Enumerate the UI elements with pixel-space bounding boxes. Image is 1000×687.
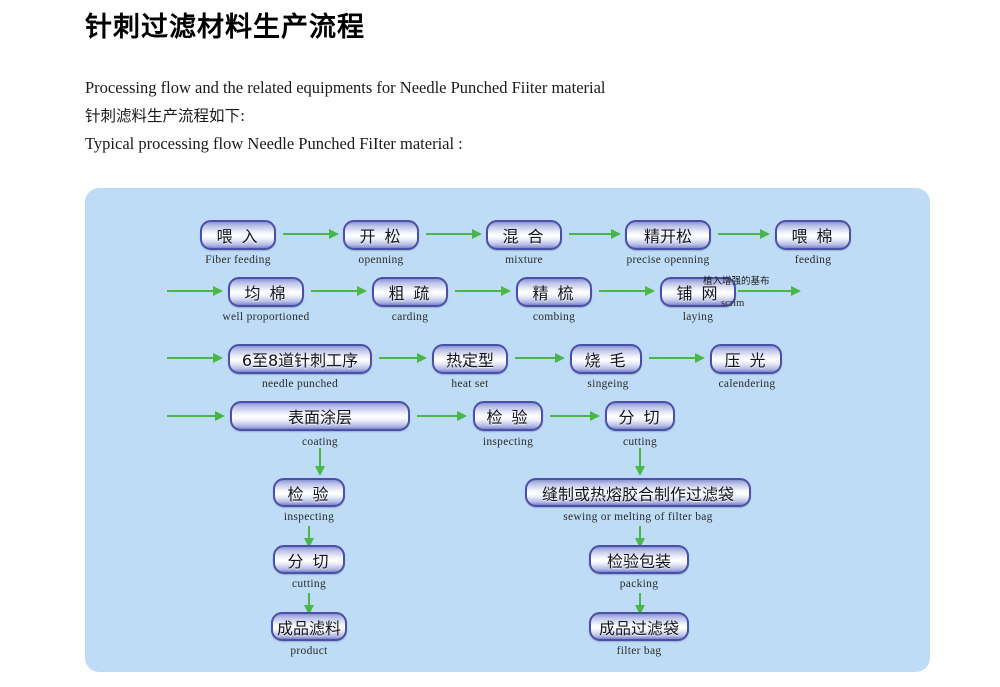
flowchart-panel: 喂 入 Fiber feeding 开 松 openning 混 合 mixtu… [85, 188, 930, 672]
node-feeding[interactable]: 喂 棉 [775, 220, 851, 250]
node-label: 成品过滤袋 [599, 615, 679, 639]
caption-inspecting-branch: inspecting [254, 511, 364, 523]
caption-calendering: calendering [683, 378, 811, 390]
node-well-proportioned[interactable]: 均 棉 [228, 277, 304, 307]
arrow-row2-3 [599, 286, 655, 297]
arrow-row1-1 [283, 229, 339, 240]
node-label: 粗 疏 [388, 280, 431, 304]
arrow-cutting-to-sewing [635, 448, 646, 476]
caption-fiber-feeding: Fiber feeding [170, 254, 306, 266]
node-label: 烧 毛 [584, 347, 627, 371]
node-label: 检验包装 [607, 548, 671, 572]
node-carding[interactable]: 粗 疏 [372, 277, 448, 307]
caption-combing: combing [494, 311, 614, 323]
node-precise-openning[interactable]: 精开松 [625, 220, 711, 250]
page-title: 针刺过滤材料生产流程 [85, 8, 945, 48]
scrim-label-english: scrim [721, 298, 744, 309]
caption-precise-openning: precise openning [598, 254, 738, 266]
node-label: 精开松 [644, 223, 692, 247]
arrow-row3-2 [515, 353, 565, 364]
arrow-scrim [738, 286, 801, 297]
node-heat-set[interactable]: 热定型 [432, 344, 508, 374]
caption-openning: openning [321, 254, 441, 266]
node-label: 精 梳 [532, 280, 575, 304]
arrow-row1-2 [426, 229, 482, 240]
subtitle-english-2: Typical processing flow Needle Punched F… [85, 130, 945, 158]
arrow-row4-entry [167, 411, 225, 422]
node-fiber-feeding[interactable]: 喂 入 [200, 220, 276, 250]
caption-heat-set: heat set [410, 378, 530, 390]
node-label: 成品滤料 [277, 615, 341, 639]
node-cutting-branch[interactable]: 分 切 [273, 545, 345, 574]
arrow-row3-1 [379, 353, 427, 364]
arrow-row2-entry [167, 286, 223, 297]
caption-inspecting-row4: inspecting [453, 436, 563, 448]
node-label: 检 验 [287, 481, 330, 505]
scrim-label-chinese: 植入增强的基布 [703, 273, 770, 287]
caption-singeing: singeing [548, 378, 668, 390]
node-inspecting-row4[interactable]: 检 验 [473, 401, 543, 431]
node-label: 混 合 [502, 223, 545, 247]
node-filter-bag[interactable]: 成品过滤袋 [589, 612, 689, 641]
caption-well-proportioned: well proportioned [196, 311, 336, 323]
caption-feeding: feeding [753, 254, 873, 266]
caption-carding: carding [350, 311, 470, 323]
node-combing[interactable]: 精 梳 [516, 277, 592, 307]
caption-coating: coating [260, 436, 380, 448]
node-label: 喂 棉 [791, 223, 834, 247]
node-product[interactable]: 成品滤料 [271, 612, 347, 641]
caption-cutting-row4: cutting [585, 436, 695, 448]
subtitle-english-1: Processing flow and the related equipmen… [85, 74, 945, 102]
node-needle-punched[interactable]: 6至8道针刺工序 [228, 344, 372, 374]
arrow-coating-to-inspecting [315, 448, 326, 476]
caption-product: product [254, 645, 364, 657]
node-label: 喂 入 [216, 223, 259, 247]
node-coating[interactable]: 表面涂层 [230, 401, 410, 431]
node-mixture[interactable]: 混 合 [486, 220, 562, 250]
caption-cutting-branch: cutting [254, 578, 364, 590]
arrow-row2-1 [311, 286, 367, 297]
caption-laying: laying [638, 311, 758, 323]
caption-filter-bag: filter bag [589, 645, 689, 657]
caption-sewing-filter-bag: sewing or melting of filter bag [525, 511, 751, 523]
node-label: 热定型 [446, 347, 494, 371]
caption-needle-punched: needle punched [230, 378, 370, 390]
node-label: 6至8道针刺工序 [242, 347, 358, 371]
arrow-row2-2 [455, 286, 511, 297]
node-label: 分 切 [287, 548, 330, 572]
node-label: 表面涂层 [288, 404, 352, 428]
node-inspecting-branch[interactable]: 检 验 [273, 478, 345, 507]
page-header: 针刺过滤材料生产流程 Processing flow and the relat… [85, 8, 945, 158]
arrow-row3-3 [649, 353, 705, 364]
arrow-row3-entry [167, 353, 223, 364]
arrow-row4-2 [550, 411, 600, 422]
node-label: 压 光 [724, 347, 767, 371]
arrow-row1-4 [718, 229, 770, 240]
node-label: 均 棉 [244, 280, 287, 304]
node-label: 开 松 [359, 223, 402, 247]
caption-mixture: mixture [464, 254, 584, 266]
node-label: 分 切 [618, 404, 661, 428]
arrow-row4-1 [417, 411, 467, 422]
node-packing[interactable]: 检验包装 [589, 545, 689, 574]
caption-packing: packing [589, 578, 689, 590]
node-openning[interactable]: 开 松 [343, 220, 419, 250]
node-cutting-row4[interactable]: 分 切 [605, 401, 675, 431]
arrow-row1-3 [569, 229, 621, 240]
node-label: 检 验 [486, 404, 529, 428]
subtitle-chinese: 针刺滤料生产流程如下: [85, 102, 945, 130]
node-singeing[interactable]: 烧 毛 [570, 344, 642, 374]
node-label: 缝制或热熔胶合制作过滤袋 [542, 481, 734, 505]
node-calendering[interactable]: 压 光 [710, 344, 782, 374]
node-sewing-filter-bag[interactable]: 缝制或热熔胶合制作过滤袋 [525, 478, 751, 507]
